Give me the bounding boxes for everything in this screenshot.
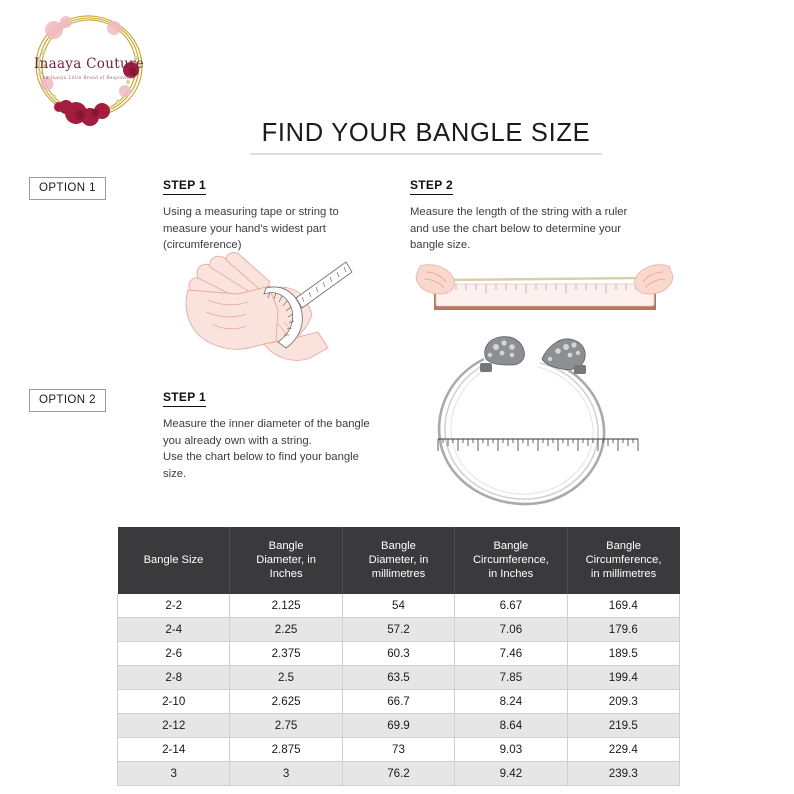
table-row: 2-122.7569.98.64219.5 (118, 714, 680, 738)
column-header-circumference-mm: Bangle Circumference, in millimetres (567, 527, 679, 594)
step-heading: STEP 1 (163, 178, 206, 195)
table-cell-0: 2-14 (118, 738, 230, 762)
floral-wreath-icon: Inaaya Couture An Inaaya Little Brand of… (14, 8, 164, 130)
title-divider (250, 153, 602, 155)
table-cell-4: 199.4 (567, 666, 679, 690)
option-2-badge: OPTION 2 (29, 389, 106, 412)
title-block: FIND YOUR BANGLE SIZE (250, 118, 602, 155)
table-row: 2-22.125546.67169.4 (118, 594, 680, 618)
table-cell-3: 8.24 (455, 690, 567, 714)
column-header-circumference-inches: Bangle Circumference, in Inches (455, 527, 567, 594)
table-cell-3: 6.67 (455, 594, 567, 618)
table-cell-2: 60.3 (342, 642, 454, 666)
option-1-badge: OPTION 1 (29, 177, 106, 200)
step-heading: STEP 1 (163, 390, 206, 407)
table-cell-2: 54 (342, 594, 454, 618)
table-header-row: Bangle Size Bangle Diameter, in Inches B… (118, 527, 680, 594)
column-header-diameter-mm: Bangle Diameter, in millimetres (342, 527, 454, 594)
table-cell-3: 8.64 (455, 714, 567, 738)
option-1-step-2: STEP 2 Measure the length of the string … (410, 176, 665, 254)
brand-logo: Inaaya Couture An Inaaya Little Brand of… (14, 8, 164, 130)
column-header-bangle-size: Bangle Size (118, 527, 230, 594)
table-row: 2-42.2557.27.06179.6 (118, 618, 680, 642)
table-cell-0: 2-6 (118, 642, 230, 666)
table-cell-0: 2-10 (118, 690, 230, 714)
table-row: 2-102.62566.78.24209.3 (118, 690, 680, 714)
hand-with-measuring-tape-illustration (178, 248, 353, 363)
step-body: Measure the length of the string with a … (410, 204, 665, 254)
brand-name: Inaaya Couture (34, 56, 144, 72)
table-cell-4: 189.5 (567, 642, 679, 666)
table-cell-1: 3 (230, 762, 342, 786)
table-cell-2: 57.2 (342, 618, 454, 642)
table-cell-4: 169.4 (567, 594, 679, 618)
table-cell-1: 2.375 (230, 642, 342, 666)
table-cell-0: 2-12 (118, 714, 230, 738)
table-cell-2: 73 (342, 738, 454, 762)
bangle-with-ruler-illustration (424, 333, 654, 513)
table-cell-0: 2-2 (118, 594, 230, 618)
table-cell-1: 2.5 (230, 666, 342, 690)
table-row: 2-62.37560.37.46189.5 (118, 642, 680, 666)
table-cell-3: 7.46 (455, 642, 567, 666)
table-cell-3: 9.03 (455, 738, 567, 762)
table-row: 2-82.563.57.85199.4 (118, 666, 680, 690)
table-cell-2: 63.5 (342, 666, 454, 690)
table-cell-4: 239.3 (567, 762, 679, 786)
option-1-step-1: STEP 1 Using a measuring tape or string … (163, 176, 363, 254)
step-body: Measure the inner diameter of the bangle… (163, 416, 408, 482)
table-cell-2: 66.7 (342, 690, 454, 714)
table-cell-1: 2.625 (230, 690, 342, 714)
table-cell-0: 3 (118, 762, 230, 786)
table-cell-2: 76.2 (342, 762, 454, 786)
table-cell-0: 2-8 (118, 666, 230, 690)
column-header-diameter-inches: Bangle Diameter, in Inches (230, 527, 342, 594)
table-cell-0: 2-4 (118, 618, 230, 642)
table-cell-1: 2.875 (230, 738, 342, 762)
hands-holding-string-on-ruler-illustration (412, 252, 677, 324)
table-cell-2: 69.9 (342, 714, 454, 738)
brand-tagline: An Inaaya Little Brand of Responsible (41, 75, 136, 80)
table-row: 3376.29.42239.3 (118, 762, 680, 786)
bangle-size-table: Bangle Size Bangle Diameter, in Inches B… (117, 527, 680, 786)
table-cell-4: 209.3 (567, 690, 679, 714)
table-cell-1: 2.75 (230, 714, 342, 738)
table-cell-3: 9.42 (455, 762, 567, 786)
table-cell-4: 219.5 (567, 714, 679, 738)
table-cell-3: 7.06 (455, 618, 567, 642)
table-row: 2-142.875739.03229.4 (118, 738, 680, 762)
table-cell-4: 179.6 (567, 618, 679, 642)
page-title: FIND YOUR BANGLE SIZE (250, 118, 602, 148)
option-2-step-1: STEP 1 Measure the inner diameter of the… (163, 388, 408, 482)
table-cell-3: 7.85 (455, 666, 567, 690)
table-cell-4: 229.4 (567, 738, 679, 762)
step-heading: STEP 2 (410, 178, 453, 195)
table-cell-1: 2.125 (230, 594, 342, 618)
step-body: Using a measuring tape or string to meas… (163, 204, 363, 254)
table-cell-1: 2.25 (230, 618, 342, 642)
